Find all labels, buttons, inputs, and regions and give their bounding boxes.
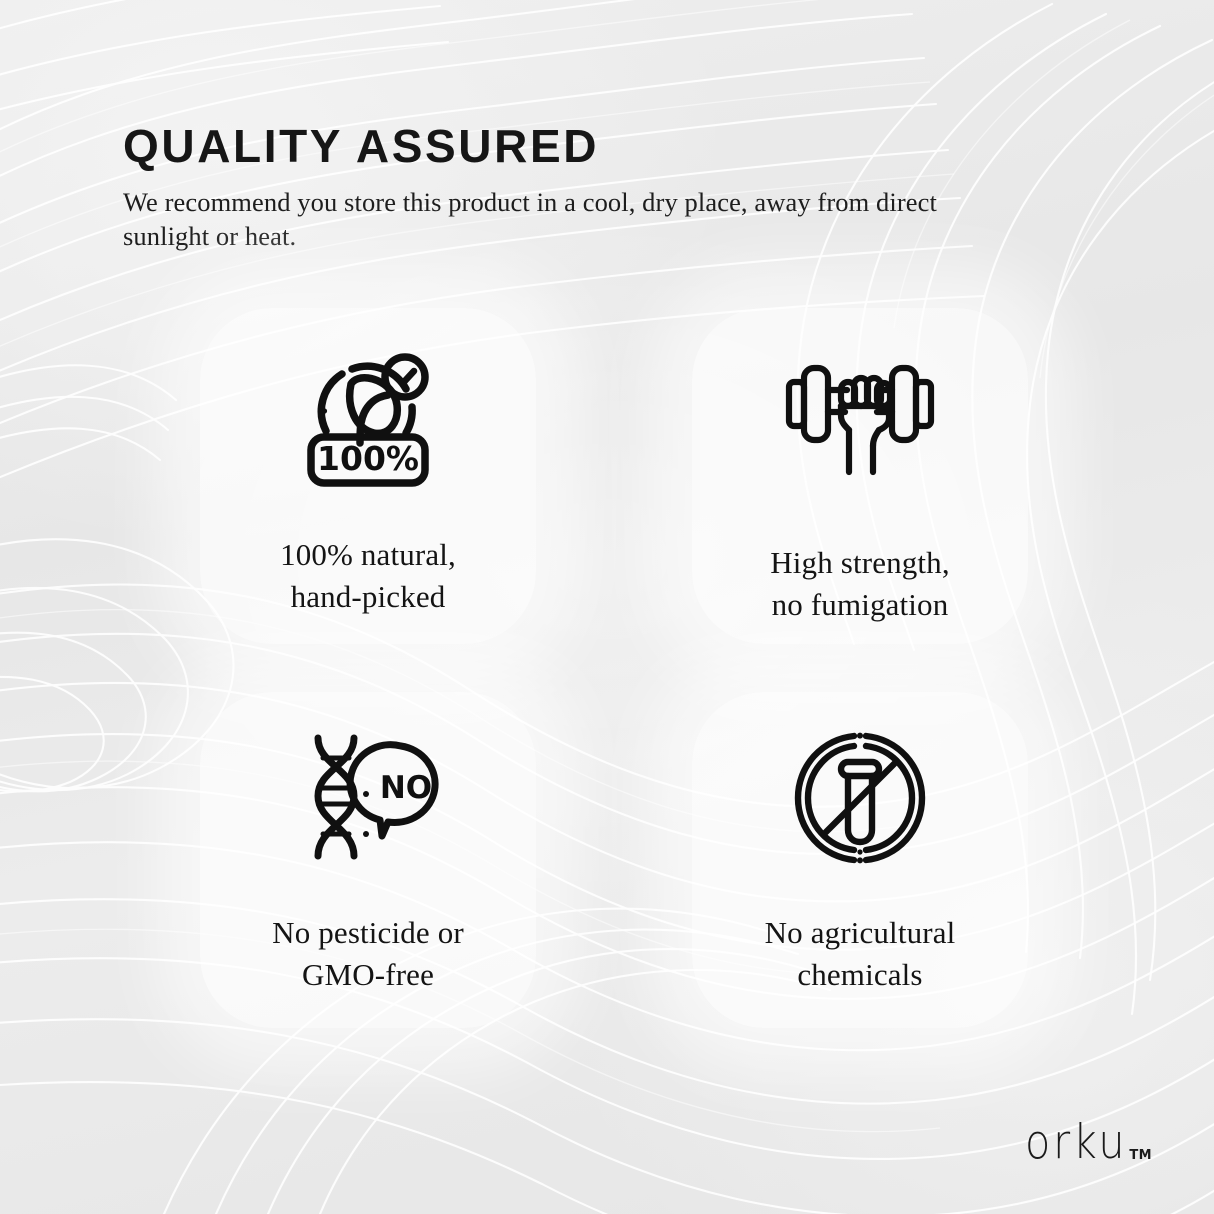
hand-holding-dumbbell-icon <box>785 340 935 490</box>
feature-item-4: No agricultural chemicals <box>672 728 1048 996</box>
trademark-symbol: TM <box>1129 1148 1152 1163</box>
header-block: QUALITY ASSURED We recommend you store t… <box>123 122 1053 253</box>
page-title: QUALITY ASSURED <box>123 122 1053 172</box>
no-test-tube-prohibited-icon <box>785 728 935 868</box>
feature-label-2: High strength, no fumigation <box>770 542 949 626</box>
quality-assured-infographic: QUALITY ASSURED We recommend you store t… <box>0 0 1214 1214</box>
brand-logo: orku TM <box>1011 1119 1152 1166</box>
feature-item-2: High strength, no fumigation <box>672 340 1048 626</box>
feature-label-3: No pesticide or GMO-free <box>272 912 464 996</box>
leaf-100-percent-badge-icon: 100% <box>293 340 443 490</box>
brand-wordmark: orku <box>1025 1119 1127 1166</box>
icon-badge-text: 100% <box>317 439 419 478</box>
feature-item-1: 100% 100% natural, hand-picked <box>180 340 556 618</box>
feature-label-4: No agricultural chemicals <box>765 912 956 996</box>
icon-badge-text: NO <box>380 770 432 806</box>
feature-label-1: 100% natural, hand-picked <box>280 534 456 618</box>
feature-item-3: NO No pesticide or GMO-free <box>180 728 556 996</box>
dna-no-speech-bubble-icon: NO <box>293 728 443 868</box>
page-subtitle: We recommend you store this product in a… <box>123 186 1028 254</box>
